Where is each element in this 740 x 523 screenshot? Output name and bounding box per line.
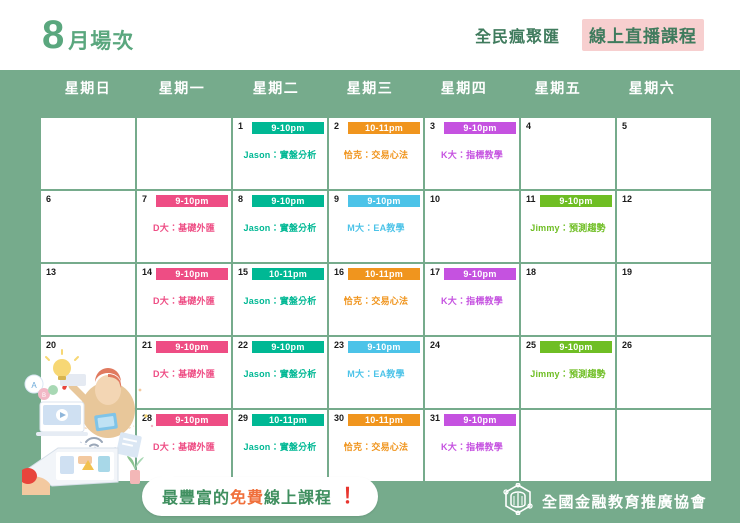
event-title[interactable]: M大：EA教學 — [329, 367, 423, 380]
weekday-header-3: 星期三 — [323, 78, 417, 98]
event-title[interactable]: 恰克：交易心法 — [329, 440, 423, 453]
calendar-day-cell: 13 — [41, 264, 135, 335]
calendar-day-cell[interactable]: 99-10pmM大：EA教學 — [329, 191, 423, 262]
event-time-badge[interactable]: 10-11pm — [348, 122, 420, 134]
day-number: 3 — [430, 122, 435, 131]
calendar-day-cell[interactable]: 149-10pmD大：基礎外匯 — [137, 264, 231, 335]
day-number: 29 — [238, 414, 248, 423]
weekday-header-1: 星期一 — [135, 78, 229, 98]
event-title[interactable]: Jimmy：預測趨勢 — [521, 367, 615, 380]
day-number: 9 — [334, 195, 339, 204]
day-number: 23 — [334, 341, 344, 350]
calendar-day-cell: 4 — [521, 118, 615, 189]
day-number: 10 — [430, 195, 440, 204]
event-time-badge[interactable]: 9-10pm — [444, 122, 516, 134]
day-number: 24 — [430, 341, 440, 350]
calendar-day-cell[interactable]: 89-10pmJason：實盤分析 — [233, 191, 327, 262]
event-title[interactable]: Jason：實盤分析 — [233, 221, 327, 234]
day-number: 26 — [622, 341, 632, 350]
event-title[interactable]: Jason：實盤分析 — [233, 148, 327, 161]
calendar-day-cell[interactable]: 219-10pmD大：基礎外匯 — [137, 337, 231, 408]
day-number: 15 — [238, 268, 248, 277]
month-suffix: 月場次 — [68, 25, 134, 55]
calendar-day-cell[interactable]: 119-10pmJimmy：預測趨勢 — [521, 191, 615, 262]
event-title[interactable]: Jason：實盤分析 — [233, 294, 327, 307]
day-number: 5 — [622, 122, 627, 131]
organization-logo: 全國金融教育推廣協會 — [503, 483, 707, 520]
month-number: 8 — [42, 15, 63, 55]
event-title[interactable]: 恰克：交易心法 — [329, 294, 423, 307]
page-title: 8 月場次 — [42, 15, 134, 55]
promo-exclamation: ！ — [337, 486, 358, 507]
day-number: 17 — [430, 268, 440, 277]
day-number: 27 — [46, 414, 56, 423]
calendar-day-cell[interactable]: 210-11pm恰克：交易心法 — [329, 118, 423, 189]
day-number: 11 — [526, 195, 536, 204]
calendar-day-cell: 5 — [617, 118, 711, 189]
event-title[interactable]: D大：基礎外匯 — [137, 367, 231, 380]
event-time-badge[interactable]: 9-10pm — [540, 341, 612, 353]
event-title[interactable]: Jason：實盤分析 — [233, 440, 327, 453]
promo-text-free: 免費 — [230, 484, 264, 508]
svg-text:A: A — [31, 381, 37, 390]
event-time-badge[interactable]: 9-10pm — [252, 341, 324, 353]
event-time-badge[interactable]: 9-10pm — [348, 195, 420, 207]
event-time-badge[interactable]: 9-10pm — [252, 195, 324, 207]
event-title[interactable]: M大：EA教學 — [329, 221, 423, 234]
weekday-header-4: 星期四 — [417, 78, 511, 98]
calendar-page: 8 月場次 全民瘋聚匯 線上直播課程 星期日星期一星期二星期三星期四星期五星期六… — [0, 0, 740, 523]
weekday-header-5: 星期五 — [511, 78, 605, 98]
promo-bubble: 最豐富的 免費 線上課程 ！ — [142, 477, 378, 516]
calendar-day-cell[interactable]: 239-10pmM大：EA教學 — [329, 337, 423, 408]
event-time-badge[interactable]: 10-11pm — [252, 414, 324, 426]
calendar-day-cell[interactable]: 229-10pmJason：實盤分析 — [233, 337, 327, 408]
page-footer: 最豐富的 免費 線上課程 ！ 全國金融教育推廣協會 — [0, 471, 740, 523]
day-number: 13 — [46, 268, 56, 277]
event-title[interactable]: K大：指標教學 — [425, 294, 519, 307]
calendar-empty-cell — [137, 118, 231, 189]
event-time-badge[interactable]: 10-11pm — [252, 268, 324, 280]
event-time-badge[interactable]: 9-10pm — [540, 195, 612, 207]
event-title[interactable]: K大：指標教學 — [425, 148, 519, 161]
day-number: 7 — [142, 195, 147, 204]
day-number: 28 — [142, 414, 152, 423]
day-number: 21 — [142, 341, 152, 350]
event-time-badge[interactable]: 9-10pm — [156, 341, 228, 353]
event-time-badge[interactable]: 9-10pm — [444, 268, 516, 280]
day-number: 14 — [142, 268, 152, 277]
calendar-day-cell[interactable]: 39-10pmK大：指標教學 — [425, 118, 519, 189]
association-hexagon-icon — [503, 483, 533, 520]
calendar-grid: 19-10pmJason：實盤分析210-11pm恰克：交易心法39-10pmK… — [41, 118, 699, 481]
calendar-day-cell: 19 — [617, 264, 711, 335]
day-number: 31 — [430, 414, 440, 423]
promo-text-part3: 線上課程 — [264, 484, 332, 508]
day-number: 18 — [526, 268, 536, 277]
calendar-day-cell[interactable]: 79-10pmD大：基礎外匯 — [137, 191, 231, 262]
event-time-badge[interactable]: 9-10pm — [444, 414, 516, 426]
brand-name: 全民瘋聚匯 — [475, 23, 560, 47]
weekday-header-0: 星期日 — [41, 78, 135, 98]
event-title[interactable]: D大：基礎外匯 — [137, 440, 231, 453]
weekday-header-row: 星期日星期一星期二星期三星期四星期五星期六 — [41, 78, 699, 98]
calendar-day-cell: 24 — [425, 337, 519, 408]
event-time-badge[interactable]: 9-10pm — [252, 122, 324, 134]
day-number: 25 — [526, 341, 536, 350]
calendar-day-cell: 18 — [521, 264, 615, 335]
calendar-day-cell: 10 — [425, 191, 519, 262]
event-time-badge[interactable]: 9-10pm — [156, 268, 228, 280]
event-time-badge[interactable]: 9-10pm — [348, 341, 420, 353]
day-number: 2 — [334, 122, 339, 131]
day-number: 1 — [238, 122, 243, 131]
calendar-day-cell[interactable]: 179-10pmK大：指標教學 — [425, 264, 519, 335]
event-title[interactable]: Jimmy：預測趨勢 — [521, 221, 615, 234]
day-number: 20 — [46, 341, 56, 350]
event-title[interactable]: D大：基礎外匯 — [137, 221, 231, 234]
calendar-day-cell: 6 — [41, 191, 135, 262]
day-number: 8 — [238, 195, 243, 204]
calendar-day-cell: 12 — [617, 191, 711, 262]
weekday-header-6: 星期六 — [605, 78, 699, 98]
course-type-badge: 線上直播課程 — [582, 19, 704, 51]
calendar-day-cell[interactable]: 259-10pmJimmy：預測趨勢 — [521, 337, 615, 408]
promo-text-part1: 最豐富的 — [162, 484, 230, 508]
event-time-badge[interactable]: 10-11pm — [348, 268, 420, 280]
event-time-badge[interactable]: 9-10pm — [156, 195, 228, 207]
day-number: 22 — [238, 341, 248, 350]
day-number: 6 — [46, 195, 51, 204]
event-title[interactable]: K大：指標教學 — [425, 440, 519, 453]
day-number: 4 — [526, 122, 531, 131]
event-title[interactable]: Jason：實盤分析 — [233, 367, 327, 380]
header-right: 全民瘋聚匯 線上直播課程 — [475, 19, 704, 51]
day-number: 12 — [622, 195, 632, 204]
day-number: 16 — [334, 268, 344, 277]
calendar-empty-cell — [41, 118, 135, 189]
event-time-badge[interactable]: 9-10pm — [156, 414, 228, 426]
page-header: 8 月場次 全民瘋聚匯 線上直播課程 — [0, 0, 740, 70]
calendar-day-cell[interactable]: 19-10pmJason：實盤分析 — [233, 118, 327, 189]
event-time-badge[interactable]: 10-11pm — [348, 414, 420, 426]
weekday-header-2: 星期二 — [229, 78, 323, 98]
calendar-day-cell: 26 — [617, 337, 711, 408]
calendar-day-cell[interactable]: 1610-11pm恰克：交易心法 — [329, 264, 423, 335]
day-number: 30 — [334, 414, 344, 423]
day-number: 19 — [622, 268, 632, 277]
event-title[interactable]: 恰克：交易心法 — [329, 148, 423, 161]
calendar-day-cell[interactable]: 1510-11pmJason：實盤分析 — [233, 264, 327, 335]
calendar-day-cell: 20 — [41, 337, 135, 408]
event-title[interactable]: D大：基礎外匯 — [137, 294, 231, 307]
organization-name: 全國金融教育推廣協會 — [542, 491, 707, 512]
